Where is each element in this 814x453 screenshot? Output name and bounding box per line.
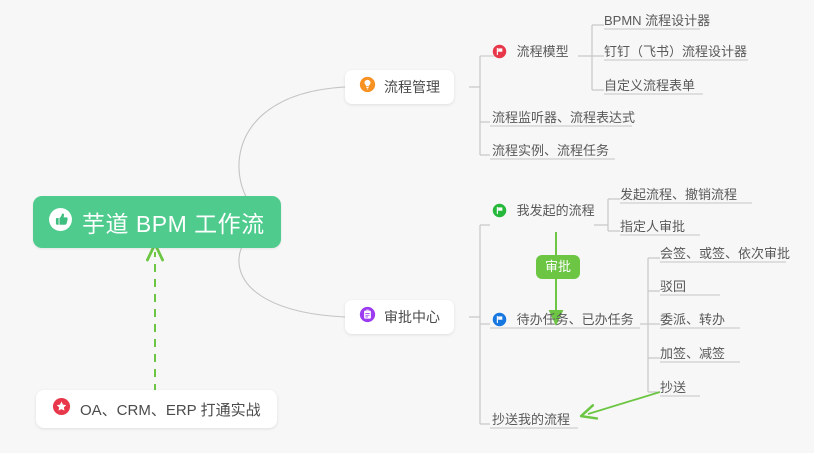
node-todo-done-tasks-label: 待办任务、已办任务	[517, 312, 634, 328]
root-node[interactable]: 芋道 BPM 工作流	[33, 196, 281, 248]
node-custom-process-form[interactable]: 自定义流程表单	[604, 78, 695, 98]
thumbs-up-icon	[48, 207, 73, 237]
branch-node-process-management[interactable]: 流程管理	[345, 70, 454, 104]
node-assignee-approval-label: 指定人审批	[620, 219, 685, 235]
clipboard-icon	[359, 306, 376, 328]
node-dingtalk-feishu-designer-label: 钉钉（飞书）流程设计器	[604, 44, 747, 60]
node-delegate-transfer-label: 委派、转办	[660, 312, 725, 328]
node-oa-crm-erp-integration[interactable]: OA、CRM、ERP 打通实战	[36, 390, 277, 428]
node-add-remove-sign[interactable]: 加签、减签	[660, 346, 725, 366]
node-process-instance-task[interactable]: 流程实例、流程任务	[492, 143, 609, 163]
node-process-instance-task-label: 流程实例、流程任务	[492, 143, 609, 159]
node-cc-to-me-processes-label: 抄送我的流程	[492, 412, 570, 428]
node-bpmn-designer[interactable]: BPMN 流程设计器	[604, 13, 710, 33]
star-icon	[52, 397, 71, 421]
branch-node-approval-center[interactable]: 审批中心	[345, 300, 454, 334]
root-label: 芋道 BPM 工作流	[82, 205, 265, 239]
node-reject-label: 驳回	[660, 279, 686, 295]
node-carbon-copy[interactable]: 抄送	[660, 380, 686, 400]
node-oa-crm-erp-integration-label: OA、CRM、ERP 打通实战	[80, 399, 261, 420]
lightbulb-pin-icon	[359, 76, 376, 98]
node-custom-process-form-label: 自定义流程表单	[604, 78, 695, 94]
node-reject[interactable]: 驳回	[660, 279, 686, 299]
node-bpmn-designer-label: BPMN 流程设计器	[604, 13, 710, 29]
node-countersign-orsign-sequential-label: 会签、或签、依次审批	[660, 246, 790, 262]
branch-label-process-management: 流程管理	[384, 77, 440, 97]
node-my-initiated-processes-label: 我发起的流程	[517, 203, 595, 219]
node-my-initiated-processes[interactable]: 我发起的流程	[492, 203, 595, 226]
node-process-listener-expression[interactable]: 流程监听器、流程表达式	[492, 110, 635, 130]
node-countersign-orsign-sequential[interactable]: 会签、或签、依次审批	[660, 246, 790, 266]
node-process-model[interactable]: 流程模型	[492, 44, 569, 67]
node-start-cancel-process-label: 发起流程、撤销流程	[620, 187, 737, 203]
node-add-remove-sign-label: 加签、减签	[660, 346, 725, 362]
node-process-model-label: 流程模型	[517, 44, 569, 60]
branch-label-approval-center: 审批中心	[384, 307, 440, 327]
node-carbon-copy-label: 抄送	[660, 380, 686, 396]
annotation-tag-approval[interactable]: 审批	[536, 255, 580, 279]
node-cc-to-me-processes[interactable]: 抄送我的流程	[492, 412, 570, 432]
node-dingtalk-feishu-designer[interactable]: 钉钉（飞书）流程设计器	[604, 44, 747, 64]
node-todo-done-tasks[interactable]: 待办任务、已办任务	[492, 312, 634, 335]
annotation-tag-approval-label: 审批	[545, 259, 571, 274]
node-assignee-approval[interactable]: 指定人审批	[620, 219, 685, 239]
node-start-cancel-process[interactable]: 发起流程、撤销流程	[620, 187, 737, 207]
flag-icon	[492, 312, 507, 331]
node-process-listener-expression-label: 流程监听器、流程表达式	[492, 110, 635, 126]
mindmap-canvas: 芋道 BPM 工作流 流程管理 审批中心	[0, 0, 814, 453]
node-delegate-transfer[interactable]: 委派、转办	[660, 312, 725, 332]
flag-icon	[492, 44, 507, 63]
flag-icon	[492, 203, 507, 222]
